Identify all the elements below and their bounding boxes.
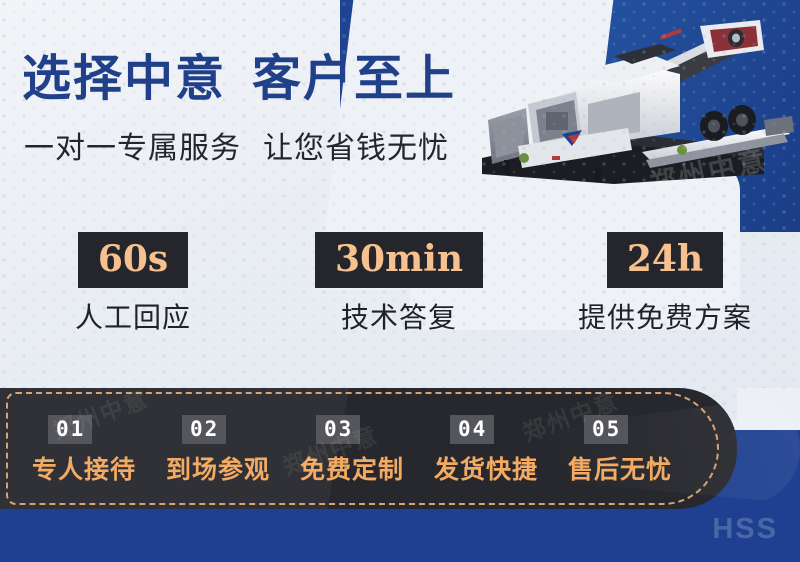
headline-part-2: 客户至上 [252,49,456,107]
headline-part-1: 选择中意 [22,49,226,107]
promise-label: 提供免费方案 [578,304,752,332]
process-steps-panel: 郑州中意 郑州中意 郑州中意 01 专人接待 02 到场参观 03 免费定制 0… [0,388,800,510]
promo-banner: 郑州中意 选择中意客户至上 一对一专属服务让您省钱无忧 60s 人工回应 30m… [0,0,800,562]
step-label: 到场参观 [166,458,270,483]
step-number: 05 [584,415,628,444]
step-item-01: 01 专人接待 [32,415,166,483]
page-title: 选择中意客户至上 [22,54,456,103]
promise-time-badge: 60s [78,232,188,288]
subhead-part-1: 一对一专属服务 [24,132,241,165]
promise-label: 人工回应 [75,304,191,332]
page-subtitle: 一对一专属服务让您省钱无忧 [24,134,449,164]
step-label: 免费定制 [300,458,404,483]
step-item-05: 05 售后无忧 [568,415,702,483]
step-label: 发货快捷 [434,458,538,483]
promise-label: 技术答复 [341,304,457,332]
step-label: 专人接待 [32,458,136,483]
step-number: 01 [48,415,92,444]
step-number: 04 [450,415,494,444]
footer-brand-mark: HSS [712,513,778,546]
promise-item: 60s 人工回应 [0,232,266,378]
step-number: 02 [182,415,226,444]
promise-time-badge: 24h [607,232,723,288]
steps-row: 01 专人接待 02 到场参观 03 免费定制 04 发货快捷 05 售后无忧 [0,388,720,509]
step-item-02: 02 到场参观 [166,415,300,483]
promise-item: 24h 提供免费方案 [532,232,798,378]
hero-blue-panel: 郑州中意 [340,0,800,232]
step-item-04: 04 发货快捷 [434,415,568,483]
promise-list: 60s 人工回应 30min 技术答复 24h 提供免费方案 [0,232,800,378]
promise-time-badge: 30min [315,232,483,288]
subhead-part-2: 让您省钱无忧 [263,132,449,165]
step-item-03: 03 免费定制 [300,415,434,483]
step-label: 售后无忧 [568,458,672,483]
promise-item: 30min 技术答复 [266,232,532,378]
step-number: 03 [316,415,360,444]
